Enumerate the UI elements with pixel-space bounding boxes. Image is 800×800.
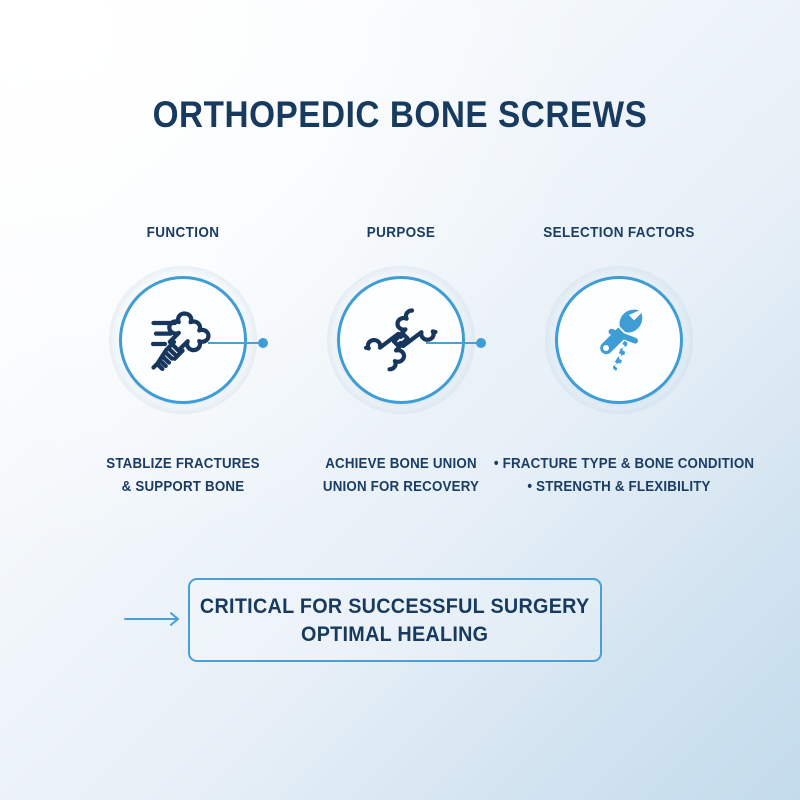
- caption-line: • FRACTURE TYPE & BONE CONDITION: [494, 453, 744, 476]
- banner-line: OPTIMAL HEALING: [200, 620, 590, 648]
- caption-line: • STRENGTH & FLEXIBILITY: [494, 476, 744, 499]
- column-heading-purpose: PURPOSE: [284, 224, 518, 242]
- connector-line: [208, 342, 260, 344]
- connector-line: [426, 342, 478, 344]
- wrench-screw-icon: [582, 303, 656, 377]
- summary-banner: CRITICAL FOR SUCCESSFUL SURGERY OPTIMAL …: [188, 578, 602, 662]
- column-selection-factors: SELECTION FACTORS: [489, 0, 749, 800]
- connector-function-to-purpose: [208, 338, 270, 348]
- connector-purpose-to-selection: [426, 338, 488, 348]
- banner-line: CRITICAL FOR SUCCESSFUL SURGERY: [200, 592, 590, 620]
- infographic-canvas: ORTHOPEDIC BONE SCREWS FUNCTION: [0, 0, 800, 800]
- column-heading-function: FUNCTION: [66, 224, 300, 242]
- summary-banner-text: CRITICAL FOR SUCCESSFUL SURGERY OPTIMAL …: [200, 592, 590, 648]
- icon-circle-selection-factors[interactable]: [555, 276, 683, 404]
- connector-dot: [258, 338, 268, 348]
- connector-dot: [476, 338, 486, 348]
- caption-selection-factors: • FRACTURE TYPE & BONE CONDITION • STREN…: [494, 453, 744, 499]
- arrow-right-icon: [124, 610, 186, 628]
- column-heading-selection-factors: SELECTION FACTORS: [502, 224, 736, 242]
